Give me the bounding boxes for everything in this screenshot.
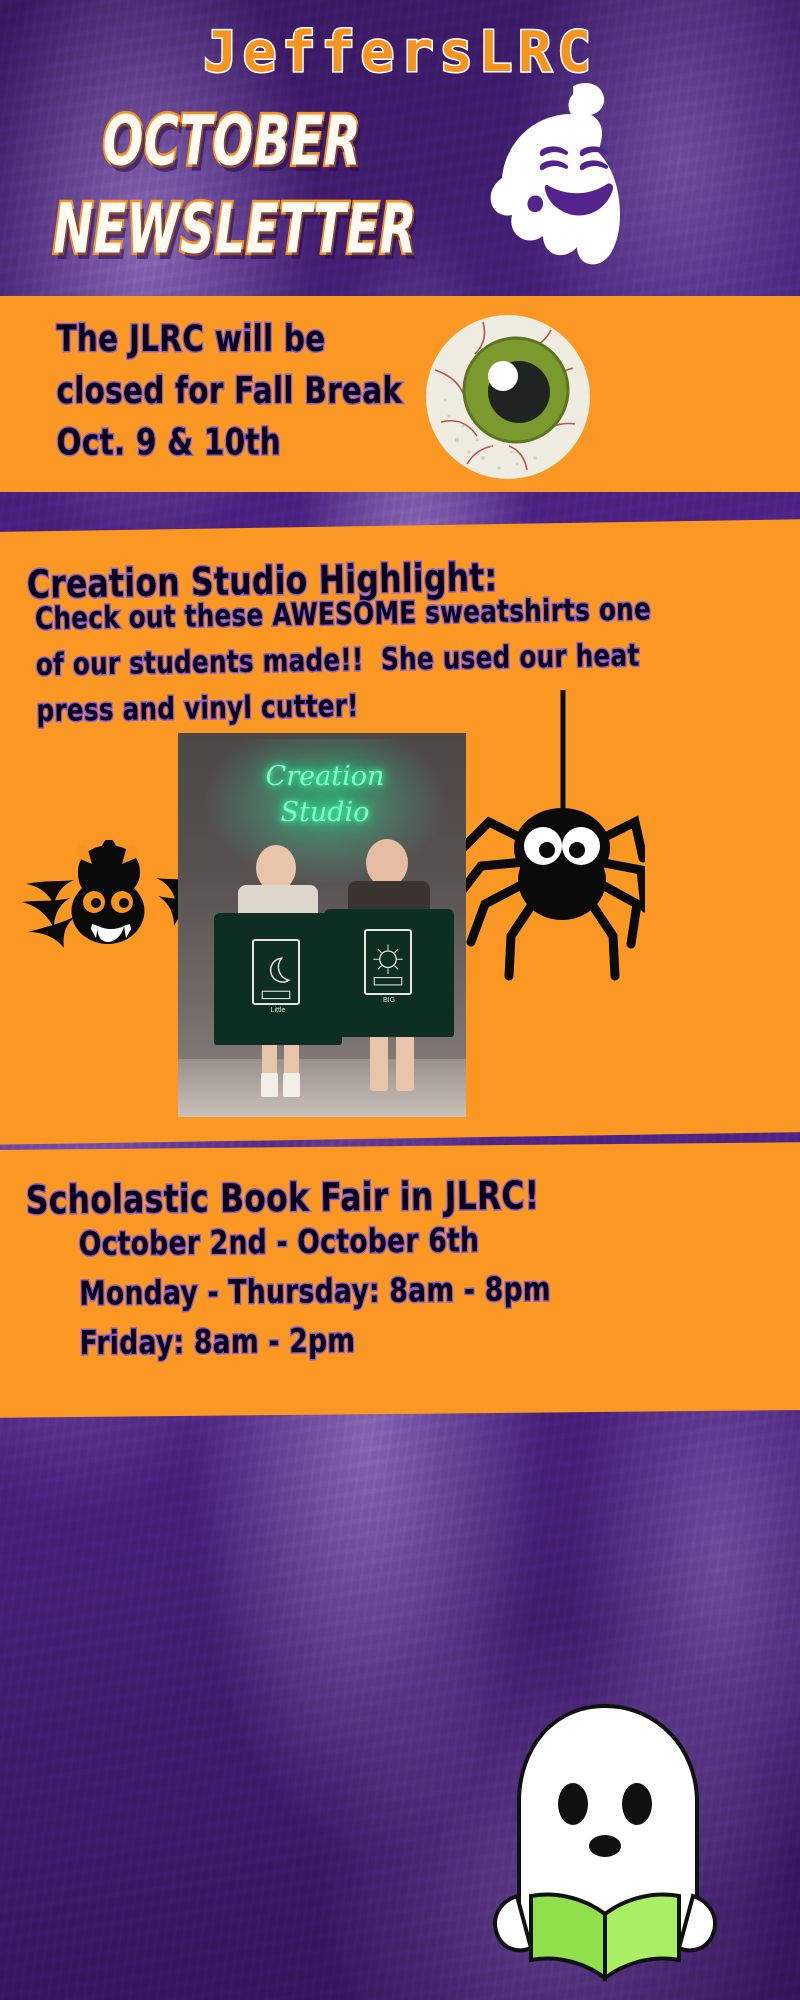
sweatshirt-right: BIG	[324, 909, 454, 1037]
fair-line-1: October 2nd - October 6th	[79, 1214, 687, 1269]
student-left-sock-a	[261, 1073, 278, 1097]
spider-icon	[455, 690, 645, 990]
neon-sign: Creation Studio	[240, 759, 410, 843]
closed-line-3: Oct. 9 & 10th	[57, 417, 456, 469]
page-title-month: OCTOBER	[39, 102, 425, 181]
sweatshirt-left: Little	[214, 913, 342, 1045]
page-title-brand: JeffersLRC	[0, 20, 800, 86]
student-right-head	[366, 839, 408, 887]
tarot-card-right	[364, 929, 412, 995]
neon-line-2: Studio	[240, 795, 410, 831]
closed-line-1: The JLRC will be	[57, 313, 456, 365]
neon-line-1: Creation	[240, 759, 410, 795]
closed-line-2: closed for Fall Break	[57, 365, 456, 417]
creation-studio-body: Check out these AWESOME sweatshirts one …	[35, 585, 797, 735]
student-left-sock-b	[283, 1073, 300, 1097]
fair-line-3: Friday: 8am - 2pm	[79, 1313, 687, 1368]
creation-studio-photo: Creation Studio Little	[178, 733, 466, 1117]
closed-notice-text: The JLRC will be closed for Fall Break O…	[57, 313, 456, 469]
tarot-card-left	[252, 939, 300, 1005]
student-left: Little	[218, 845, 338, 1107]
student-right: BIG	[326, 839, 452, 1107]
sweatshirt-right-label: BIG	[324, 997, 454, 1004]
page-title-kind: NEWSLETTER	[19, 190, 451, 269]
book-fair-schedule: October 2nd - October 6th Monday - Thurs…	[79, 1214, 688, 1369]
header-section: JeffersLRC OCTOBER NEWSLETTER	[0, 0, 800, 296]
bloodshot-eyeball-icon	[423, 312, 593, 482]
sleepy-ghost-icon	[455, 78, 655, 278]
ghost-reading-book-icon	[455, 1700, 755, 2000]
fair-line-2: Monday - Thursday: 8am - 8pm	[79, 1263, 687, 1318]
sweatshirt-left-label: Little	[214, 1007, 342, 1014]
